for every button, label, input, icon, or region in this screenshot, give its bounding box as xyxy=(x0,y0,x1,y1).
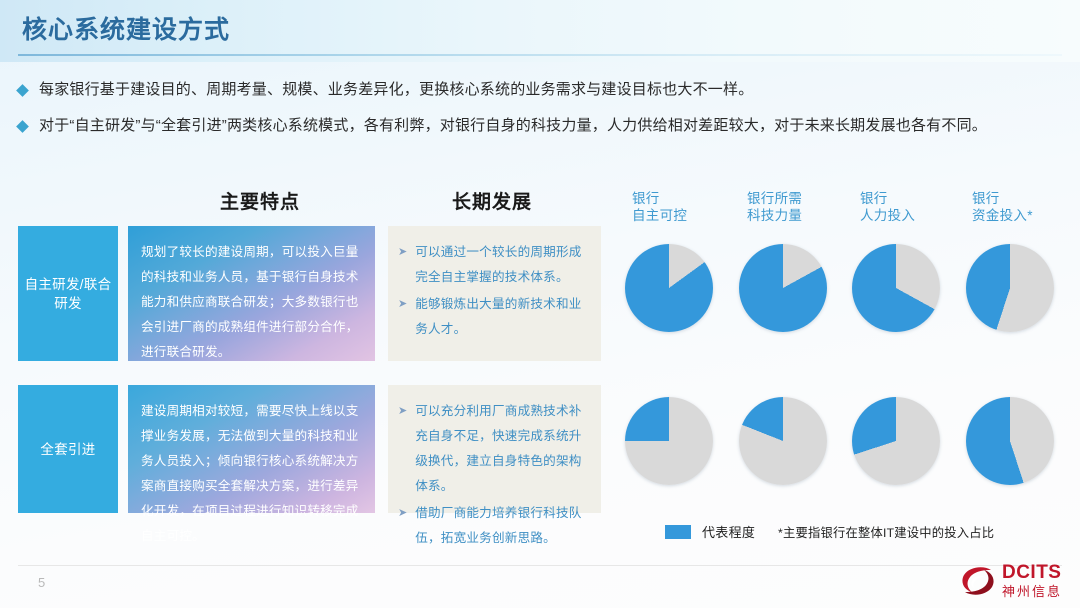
diamond-bullet-icon xyxy=(16,84,29,97)
arrow-bullet-icon: ➤ xyxy=(398,399,407,424)
arrow-bullet-icon: ➤ xyxy=(398,292,407,317)
longterm-cell-self-developed: ➤ 可以通过一个较长的周期形成完全自主掌握的技术体系。 ➤ 能够锻炼出大量的新技… xyxy=(388,226,601,361)
bullet-text: 对于“自主研发”与“全套引进”两类核心系统模式，各有利弊，对银行自身的科技力量，… xyxy=(39,116,987,136)
pie-column-header-manpower: 银行 人力投入 xyxy=(860,190,915,224)
matrix-row: 自主研发/联合研发 规划了较长的建设周期，可以投入巨量的科技和业务人员，基于银行… xyxy=(0,226,1080,361)
pie-column-header-funding: 银行 资金投入* xyxy=(972,190,1033,224)
slide-header: 核心系统建设方式 xyxy=(0,0,1080,62)
list-item: ➤ 能够锻炼出大量的新技术和业务人才。 xyxy=(398,292,589,342)
pie-chart-autonomy-self-developed xyxy=(625,244,713,332)
pie-column-header-tech-capacity: 银行所需 科技力量 xyxy=(747,190,802,224)
longterm-text: 可以通过一个较长的周期形成完全自主掌握的技术体系。 xyxy=(415,240,589,290)
features-cell-full-package: 建设周期相对较短，需要尽快上线以支撑业务发展，无法做到大量的科技和业务人员投入；… xyxy=(128,385,375,513)
legend-label: 代表程度 xyxy=(702,522,755,541)
chart-legend: 代表程度 xyxy=(665,522,755,541)
pie-chart-tech-capacity-full-package xyxy=(739,397,827,485)
longterm-text: 可以充分利用厂商成熟技术补充自身不足，快速完成系统升级换代，建立自身特色的架构体… xyxy=(415,399,589,499)
mode-label-self-developed: 自主研发/联合研发 xyxy=(18,226,118,361)
bullet-item: 对于“自主研发”与“全套引进”两类核心系统模式，各有利弊，对银行自身的科技力量，… xyxy=(18,116,1064,136)
longterm-text: 借助厂商能力培养银行科技队伍，拓宽业务创新思路。 xyxy=(415,501,589,551)
title-divider xyxy=(18,54,1062,56)
bullet-item: 每家银行基于建设目的、周期考量、规模、业务差异化，更换核心系统的业务需求与建设目… xyxy=(18,80,1064,100)
list-item: ➤ 可以充分利用厂商成熟技术补充自身不足，快速完成系统升级换代，建立自身特色的架… xyxy=(398,399,589,499)
column-header-features: 主要特点 xyxy=(220,187,300,214)
pie-column-header-autonomy: 银行 自主可控 xyxy=(632,190,687,224)
dcits-swirl-icon xyxy=(961,566,995,596)
pie-chart-manpower-self-developed xyxy=(852,244,940,332)
logo-cn: 神州信息 xyxy=(1002,585,1062,598)
pie-chart-manpower-full-package xyxy=(852,397,940,485)
mode-label-full-package: 全套引进 xyxy=(18,385,118,513)
column-header-longterm: 长期发展 xyxy=(452,187,532,214)
matrix-row: 全套引进 建设周期相对较短，需要尽快上线以支撑业务发展，无法做到大量的科技和业务… xyxy=(0,385,1080,513)
logo-en: DCITS xyxy=(1002,563,1062,582)
pie-chart-tech-capacity-self-developed xyxy=(739,244,827,332)
arrow-bullet-icon: ➤ xyxy=(398,240,407,265)
arrow-bullet-icon: ➤ xyxy=(398,501,407,526)
bullet-text: 每家银行基于建设目的、周期考量、规模、业务差异化，更换核心系统的业务需求与建设目… xyxy=(39,80,753,100)
list-item: ➤ 借助厂商能力培养银行科技队伍，拓宽业务创新思路。 xyxy=(398,501,589,551)
features-cell-self-developed: 规划了较长的建设周期，可以投入巨量的科技和业务人员，基于银行自身技术能力和供应商… xyxy=(128,226,375,361)
page-number: 5 xyxy=(38,575,45,590)
page-title: 核心系统建设方式 xyxy=(22,10,230,46)
pie-chart-funding-full-package xyxy=(966,397,1054,485)
logo-text: DCITS 神州信息 xyxy=(1002,563,1062,598)
footer-divider xyxy=(18,565,1062,566)
pie-chart-funding-self-developed xyxy=(966,244,1054,332)
diamond-bullet-icon xyxy=(16,120,29,133)
longterm-text: 能够锻炼出大量的新技术和业务人才。 xyxy=(415,292,589,342)
intro-bullet-list: 每家银行基于建设目的、周期考量、规模、业务差异化，更换核心系统的业务需求与建设目… xyxy=(18,80,1064,152)
legend-swatch-icon xyxy=(665,525,691,539)
pie-chart-autonomy-full-package xyxy=(625,397,713,485)
legend-footnote: *主要指银行在整体IT建设中的投入占比 xyxy=(778,523,994,541)
company-logo: DCITS 神州信息 xyxy=(961,563,1062,598)
list-item: ➤ 可以通过一个较长的周期形成完全自主掌握的技术体系。 xyxy=(398,240,589,290)
longterm-cell-full-package: ➤ 可以充分利用厂商成熟技术补充自身不足，快速完成系统升级换代，建立自身特色的架… xyxy=(388,385,601,513)
